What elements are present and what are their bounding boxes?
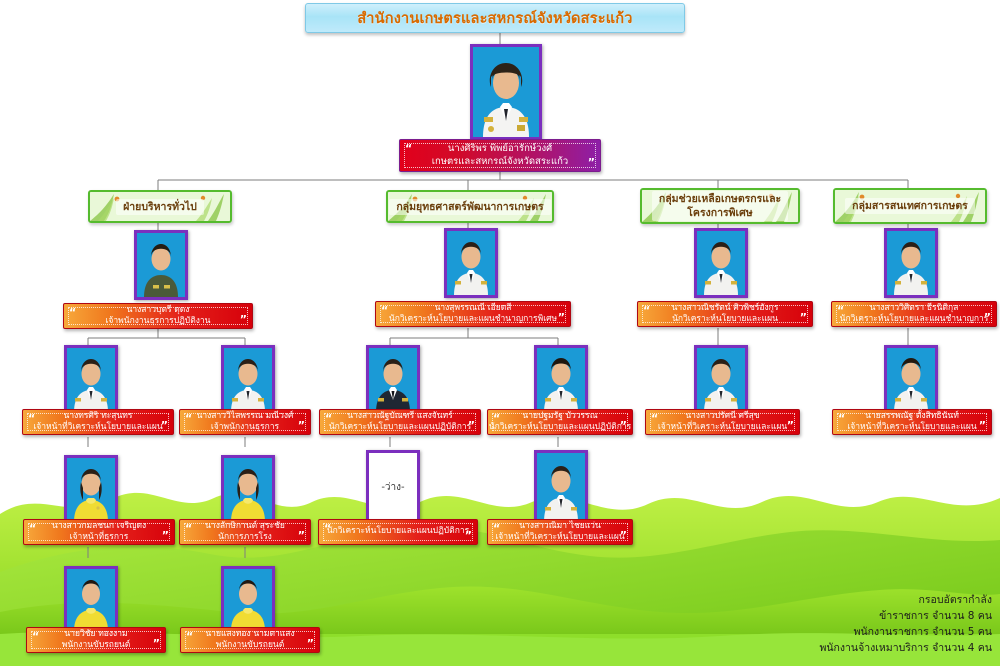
staff-plate-row2-assistance: “ นางสาวณิชรัตน์ ศิวพิชร์อังกูร นักวิเคร… (637, 301, 813, 327)
staff-position: นักวิเคราะห์นโยบายและแผน (672, 314, 778, 325)
staff-name: นางสาวณิมา ไชยแว่น (519, 521, 601, 532)
staff-plate-row3-4: “ นายปฐมรัฐ บัววรรณ นักวิเคราะห์นโยบายแล… (487, 409, 633, 435)
staff-position: นักวิเคราะห์นโยบายและแผนชำนาญการพิเศษ (389, 314, 557, 325)
leader-position: เกษตรและสหกรณ์จังหวัดสระแก้ว (432, 155, 569, 168)
quote-close-icon: ” (240, 314, 247, 325)
quote-close-icon: ” (153, 638, 160, 649)
staff-photo-row3-3 (366, 345, 420, 415)
quote-open-icon: “ (32, 631, 39, 642)
staff-name: นางสาวณิชรัตน์ ศิวพิชร์อังกูร (672, 303, 779, 314)
staffing-summary: กรอบอัตรากำลัง ข้าราชการ จำนวน 8 คน พนัก… (819, 592, 992, 656)
staff-photo-row2-strategy (444, 228, 498, 298)
dept-header-admin-label: ฝ่ายบริหารทั่วไป (116, 199, 204, 215)
quote-close-icon: ” (800, 312, 807, 323)
staffing-summary-line3: พนักงานจ้างเหมาบริการ จำนวน 4 คน (819, 640, 992, 656)
quote-open-icon: “ (837, 305, 844, 316)
quote-open-icon: “ (29, 523, 36, 534)
staff-plate-row2-admin: “ นางสาวบุตรี ดุดง เจ้าพนักงานธุรการปฏิบ… (63, 303, 253, 329)
quote-close-icon: ” (468, 420, 475, 431)
staff-plate-row4-1: “ นางสาวกมลชนก เจริญดง เจ้าหน้าที่ธุรการ… (23, 519, 175, 545)
staff-photo-row5-2 (221, 566, 275, 634)
staff-position: เจ้าพนักงานธุรการปฏิบัติงาน (106, 316, 211, 327)
quote-close-icon: ” (465, 530, 472, 541)
staff-photo-row2-information (884, 228, 938, 298)
staff-position: เจ้าหน้าที่วิเคราะห์นโยบายและแผน (495, 532, 624, 543)
staff-name: นางทรศิริ ทะสุนทร (64, 411, 133, 422)
staff-photo-row2-assistance (694, 228, 748, 298)
quote-close-icon: ” (787, 420, 794, 431)
staff-photo-row3-4 (534, 345, 588, 415)
staff-photo-row4-1 (64, 455, 118, 525)
dept-header-admin[interactable]: ฝ่ายบริหารทั่วไป (88, 190, 232, 223)
staff-name: นายสรรพณัฐ ตั้งสิทธินันท์ (865, 411, 959, 422)
staff-photo-row3-2 (221, 345, 275, 415)
staff-plate-row2-strategy: “ นางสุพรรณณี เอียดสี นักวิเคราะห์นโยบาย… (375, 301, 571, 327)
staff-plate-row3-5: “ นางสาวปรัศนี ศรีสุข เจ้าหน้าที่วิเคราะ… (645, 409, 800, 435)
quote-open-icon: “ (69, 307, 76, 318)
staff-plate-row3-2: “ นางสาววิไลพรรณ มณีวงศ์ เจ้าพนักงานธุรก… (179, 409, 311, 435)
staff-position: เจ้าหน้าที่วิเคราะห์นโยบายและแผน (847, 422, 976, 433)
quote-close-icon: ” (161, 420, 168, 431)
staff-name: นางลักษิกานต์ สุระชัย (205, 521, 285, 532)
quote-open-icon: “ (324, 523, 331, 534)
vacant-label: -ว่าง- (381, 480, 404, 495)
staff-plate-row3-1: “ นางทรศิริ ทะสุนทร เจ้าหน้าที่วิเคราะห์… (22, 409, 174, 435)
quote-open-icon: “ (185, 413, 192, 424)
staff-name: นางสาวปรัศนี ศรีสุข (685, 411, 759, 422)
staff-name: นายแสงทอง นามตาแสง (205, 629, 294, 640)
dept-header-strategy-label: กลุ่มยุทธศาสตร์พัฒนาการเกษตร (389, 199, 550, 215)
staff-photo-row5-1 (64, 566, 118, 634)
quote-close-icon: ” (620, 530, 627, 541)
dept-header-assistance-line1: กลุ่มช่วยเหลือเกษตรกรและ (659, 193, 781, 205)
staff-plate-row5-1: “ นายวิชัย ทองงาม พนักงานขับรถยนต์ ” (26, 627, 166, 653)
staff-name: นางสาวบุตรี ดุดง (127, 305, 190, 316)
quote-close-icon: ” (984, 312, 991, 323)
staff-name: นางสาวกมลชนก เจริญดง (52, 521, 146, 532)
quote-open-icon: “ (28, 413, 35, 424)
quote-open-icon: “ (325, 413, 332, 424)
dept-header-assistance-line2: โครงการพิเศษ (687, 207, 752, 219)
quote-open-icon: “ (186, 631, 193, 642)
staff-photo-row4-2 (221, 455, 275, 525)
quote-open-icon: “ (493, 413, 500, 424)
quote-close-icon: ” (307, 638, 314, 649)
staff-photo-row3-6 (884, 345, 938, 415)
staff-plate-row4-2: “ นางลักษิกานต์ สุระชัย นักการภารโรง ” (179, 519, 311, 545)
staff-position: พนักงานขับรถยนต์ (62, 640, 131, 651)
org-chart-canvas: สำนักงานเกษตรและสหกรณ์จังหวัดสระแก้ว “ น… (0, 0, 1000, 666)
staff-photo-row4-4 (534, 450, 588, 525)
staff-position: เจ้าพนักงานธุรการ (211, 422, 279, 433)
staff-name: นางสาววิศิตรา ธีรนิติกุล (870, 303, 959, 314)
staff-position: เจ้าหน้าที่ธุรการ (70, 532, 129, 543)
staff-position: พนักงานขับรถยนต์ (216, 640, 285, 651)
staff-photo-row2-admin (134, 230, 188, 300)
staff-position: นักวิเคราะห์นโยบายและแผนชำนาญการ (840, 314, 989, 325)
staff-name: นายปฐมรัฐ บัววรรณ (522, 411, 597, 422)
quote-close-icon: ” (588, 157, 595, 168)
quote-close-icon: ” (558, 312, 565, 323)
quote-open-icon: “ (405, 143, 412, 154)
staffing-summary-title: กรอบอัตรากำลัง (819, 592, 992, 608)
quote-open-icon: “ (643, 305, 650, 316)
quote-open-icon: “ (493, 523, 500, 534)
staff-plate-row4-4: “ นางสาวณิมา ไชยแว่น เจ้าหน้าที่วิเคราะห… (487, 519, 633, 545)
staff-name: นางสุพรรณณี เอียดสี (435, 303, 512, 314)
quote-close-icon: ” (979, 420, 986, 431)
dept-header-assistance[interactable]: กลุ่มช่วยเหลือเกษตรกรและ โครงการพิเศษ (640, 188, 800, 224)
staff-photo-row4-3-vacant: -ว่าง- (366, 450, 420, 525)
staff-position: นักการภารโรง (218, 532, 272, 543)
staffing-summary-line1: ข้าราชการ จำนวน 8 คน (819, 608, 992, 624)
dept-header-information[interactable]: กลุ่มสารสนเทศการเกษตร (833, 188, 987, 224)
staff-photo-row3-5 (694, 345, 748, 415)
staff-plate-row3-6: “ นายสรรพณัฐ ตั้งสิทธินันท์ เจ้าหน้าที่ว… (832, 409, 992, 435)
staff-photo-row3-1 (64, 345, 118, 415)
staff-name: นางสาวณัฐบัณฑรี แสงจันทร์ (347, 411, 452, 422)
quote-close-icon: ” (298, 420, 305, 431)
quote-close-icon: ” (162, 530, 169, 541)
page-title-text: สำนักงานเกษตรและสหกรณ์จังหวัดสระแก้ว (357, 7, 632, 30)
staff-position: เจ้าหน้าที่วิเคราะห์นโยบายและแผน (658, 422, 787, 433)
dept-header-strategy[interactable]: กลุ่มยุทธศาสตร์พัฒนาการเกษตร (386, 190, 554, 223)
quote-open-icon: “ (185, 523, 192, 534)
dept-header-assistance-label: กลุ่มช่วยเหลือเกษตรกรและ โครงการพิเศษ (652, 191, 788, 221)
quote-open-icon: “ (381, 305, 388, 316)
staff-position: นักวิเคราะห์นโยบายและแผนปฏิบัติการ (327, 526, 469, 537)
quote-open-icon: “ (651, 413, 658, 424)
leader-photo (470, 44, 542, 140)
staff-name: นางสาววิไลพรรณ มณีวงศ์ (197, 411, 294, 422)
staff-plate-row2-information: “ นางสาววิศิตรา ธีรนิติกุล นักวิเคราะห์น… (831, 301, 997, 327)
staff-position: นักวิเคราะห์นโยบายและแผนปฏิบัติการ (489, 422, 631, 433)
leader-name-plate: “ นางศิริพร พิพย์อารักษ์วงศ์ เกษตรและสหก… (399, 139, 601, 172)
staff-plate-row5-2: “ นายแสงทอง นามตาแสง พนักงานขับรถยนต์ ” (180, 627, 320, 653)
staff-position: เจ้าหน้าที่วิเคราะห์นโยบายและแผน (33, 422, 162, 433)
staffing-summary-line2: พนักงานราชการ จำนวน 5 คน (819, 624, 992, 640)
leader-name: นางศิริพร พิพย์อารักษ์วงศ์ (448, 142, 552, 155)
quote-close-icon: ” (620, 420, 627, 431)
quote-close-icon: ” (298, 530, 305, 541)
quote-open-icon: “ (838, 413, 845, 424)
dept-header-information-label: กลุ่มสารสนเทศการเกษตร (845, 198, 975, 214)
staff-name: นายวิชัย ทองงาม (64, 629, 127, 640)
staff-plate-row4-3: “ นักวิเคราะห์นโยบายและแผนปฏิบัติการ ” (318, 519, 478, 545)
page-title: สำนักงานเกษตรและสหกรณ์จังหวัดสระแก้ว (305, 3, 685, 33)
staff-position: นักวิเคราะห์นโยบายและแผนปฏิบัติการ (329, 422, 471, 433)
staff-plate-row3-3: “ นางสาวณัฐบัณฑรี แสงจันทร์ นักวิเคราะห์… (319, 409, 481, 435)
